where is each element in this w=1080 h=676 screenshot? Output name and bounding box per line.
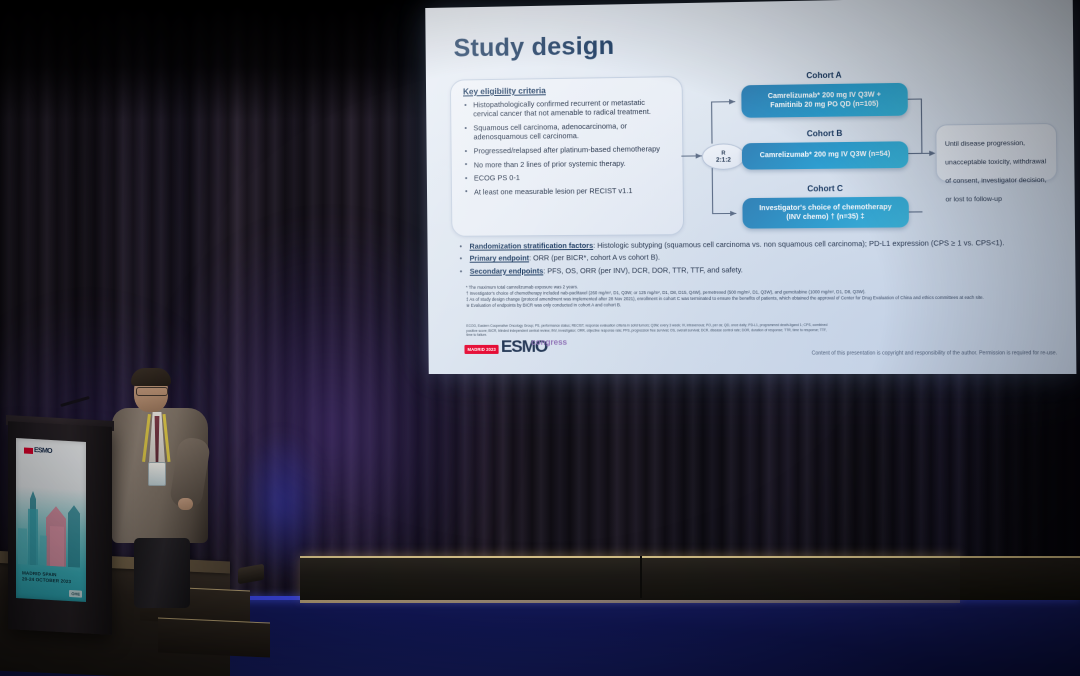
madrid-skyline-graphic <box>16 468 86 568</box>
cohort-b-label: Cohort B <box>742 128 908 139</box>
esmo-footer-logo: MADRID 2023 ESMO congress <box>464 338 567 354</box>
banner-esmo-text: ESMO <box>34 447 52 455</box>
banner-logo: ESMO <box>24 446 52 455</box>
cohort-a-line2: Famitinib 20 mg PO QD (n=105) <box>770 100 878 111</box>
endpoints-list: Randomization stratification factors: Hi… <box>457 237 1051 278</box>
conference-photo-scene: Study design Key eligibility criteria Hi… <box>0 0 1080 676</box>
cohort-c-line2: (INV chemo) † (n=35) ‡ <box>786 212 864 222</box>
cohort-a-label: Cohort A <box>741 69 907 81</box>
eligibility-criteria-card: Key eligibility criteria Histopathologic… <box>450 76 684 237</box>
stage-riser-seam <box>640 556 642 598</box>
endpoint-label: Secondary endpoints <box>470 266 544 275</box>
projection-screen: Study design Key eligibility criteria Hi… <box>425 0 1076 374</box>
list-item: Secondary endpoints: PFS, OS, ORR (per I… <box>458 262 1051 277</box>
endpoint-label: Primary endpoint <box>470 254 529 263</box>
list-item: ECOG PS 0-1 <box>474 172 673 184</box>
congress-wordmark: congress <box>531 338 567 347</box>
abbreviations-text: ECOG, Eastern Cooperative Oncology Group… <box>466 323 834 338</box>
list-item: Squamous cell carcinoma, adenocarcinoma,… <box>473 121 672 142</box>
stage-riser-back <box>300 556 960 600</box>
randomization-ellipse: R 2:1:2 <box>702 143 745 170</box>
eligibility-heading: Key eligibility criteria <box>463 86 546 96</box>
presenter-speaker <box>112 370 210 605</box>
endpoint-text: : ORR (per BICR*, cohort A vs cohort B). <box>529 253 660 263</box>
list-item: Progressed/relapsed after platinum-based… <box>474 144 673 156</box>
endpoint-label: Randomization stratification factors <box>469 241 593 251</box>
cohort-c-label: Cohort C <box>742 183 908 194</box>
cohort-c-box: Investigator's choice of chemotherapy (I… <box>742 197 909 229</box>
treatment-duration-text: Until disease progression, unacceptable … <box>945 140 1047 204</box>
slide-title: Study design <box>453 32 614 64</box>
banner-partner-logo: OHE <box>69 590 82 598</box>
randomization-ratio: 2:1:2 <box>716 156 731 163</box>
speaker-badge <box>148 462 166 486</box>
madrid-2023-badge: MADRID 2023 <box>464 345 499 354</box>
list-item: At least one measurable lesion per RECIS… <box>474 185 673 196</box>
endpoint-text: : PFS, OS, ORR (per INV), DCR, DOR, TTR,… <box>543 265 743 275</box>
banner-madrid-badge <box>24 447 33 454</box>
endpoint-text: : Histologic subtyping (squamous cell ca… <box>593 238 1004 250</box>
presentation-slide: Study design Key eligibility criteria Hi… <box>425 0 1076 374</box>
footnote: ※ Evaluation of endpoints by BICR was on… <box>466 300 1065 308</box>
banner-date-text: MADRID SPAIN 20-24 OCTOBER 2023 <box>22 570 71 585</box>
speaker-glasses <box>136 387 168 396</box>
treatment-duration-box: Until disease progression, unacceptable … <box>935 123 1057 182</box>
cohort-b-line1: Camrelizumab* 200 mg IV Q3W (n=54) <box>760 150 891 161</box>
cohort-a-box: Camrelizumab* 200 mg IV Q3W + Famitinib … <box>741 83 908 118</box>
list-item: Histopathologically confirmed recurrent … <box>473 97 672 119</box>
copyright-notice: Content of this presentation is copyrigh… <box>733 350 1058 356</box>
stage-riser-right <box>960 556 1080 600</box>
speaker-hand <box>178 498 193 510</box>
cohort-b-box: Camrelizumab* 200 mg IV Q3W (n=54) <box>742 141 909 169</box>
speaker-trousers <box>134 538 190 608</box>
speaker-hair <box>131 368 171 386</box>
podium-banner: ESMO MADRID SPAIN 20-24 OCTOBER 2023 OHE <box>16 438 86 602</box>
cohort-c-line1: Investigator's choice of chemotherapy <box>759 202 892 213</box>
list-item: No more than 2 lines of prior systemic t… <box>474 158 673 170</box>
footnotes-block: * The maximum total camrelizumab exposur… <box>466 282 1065 308</box>
stage-step-lower <box>158 617 270 657</box>
